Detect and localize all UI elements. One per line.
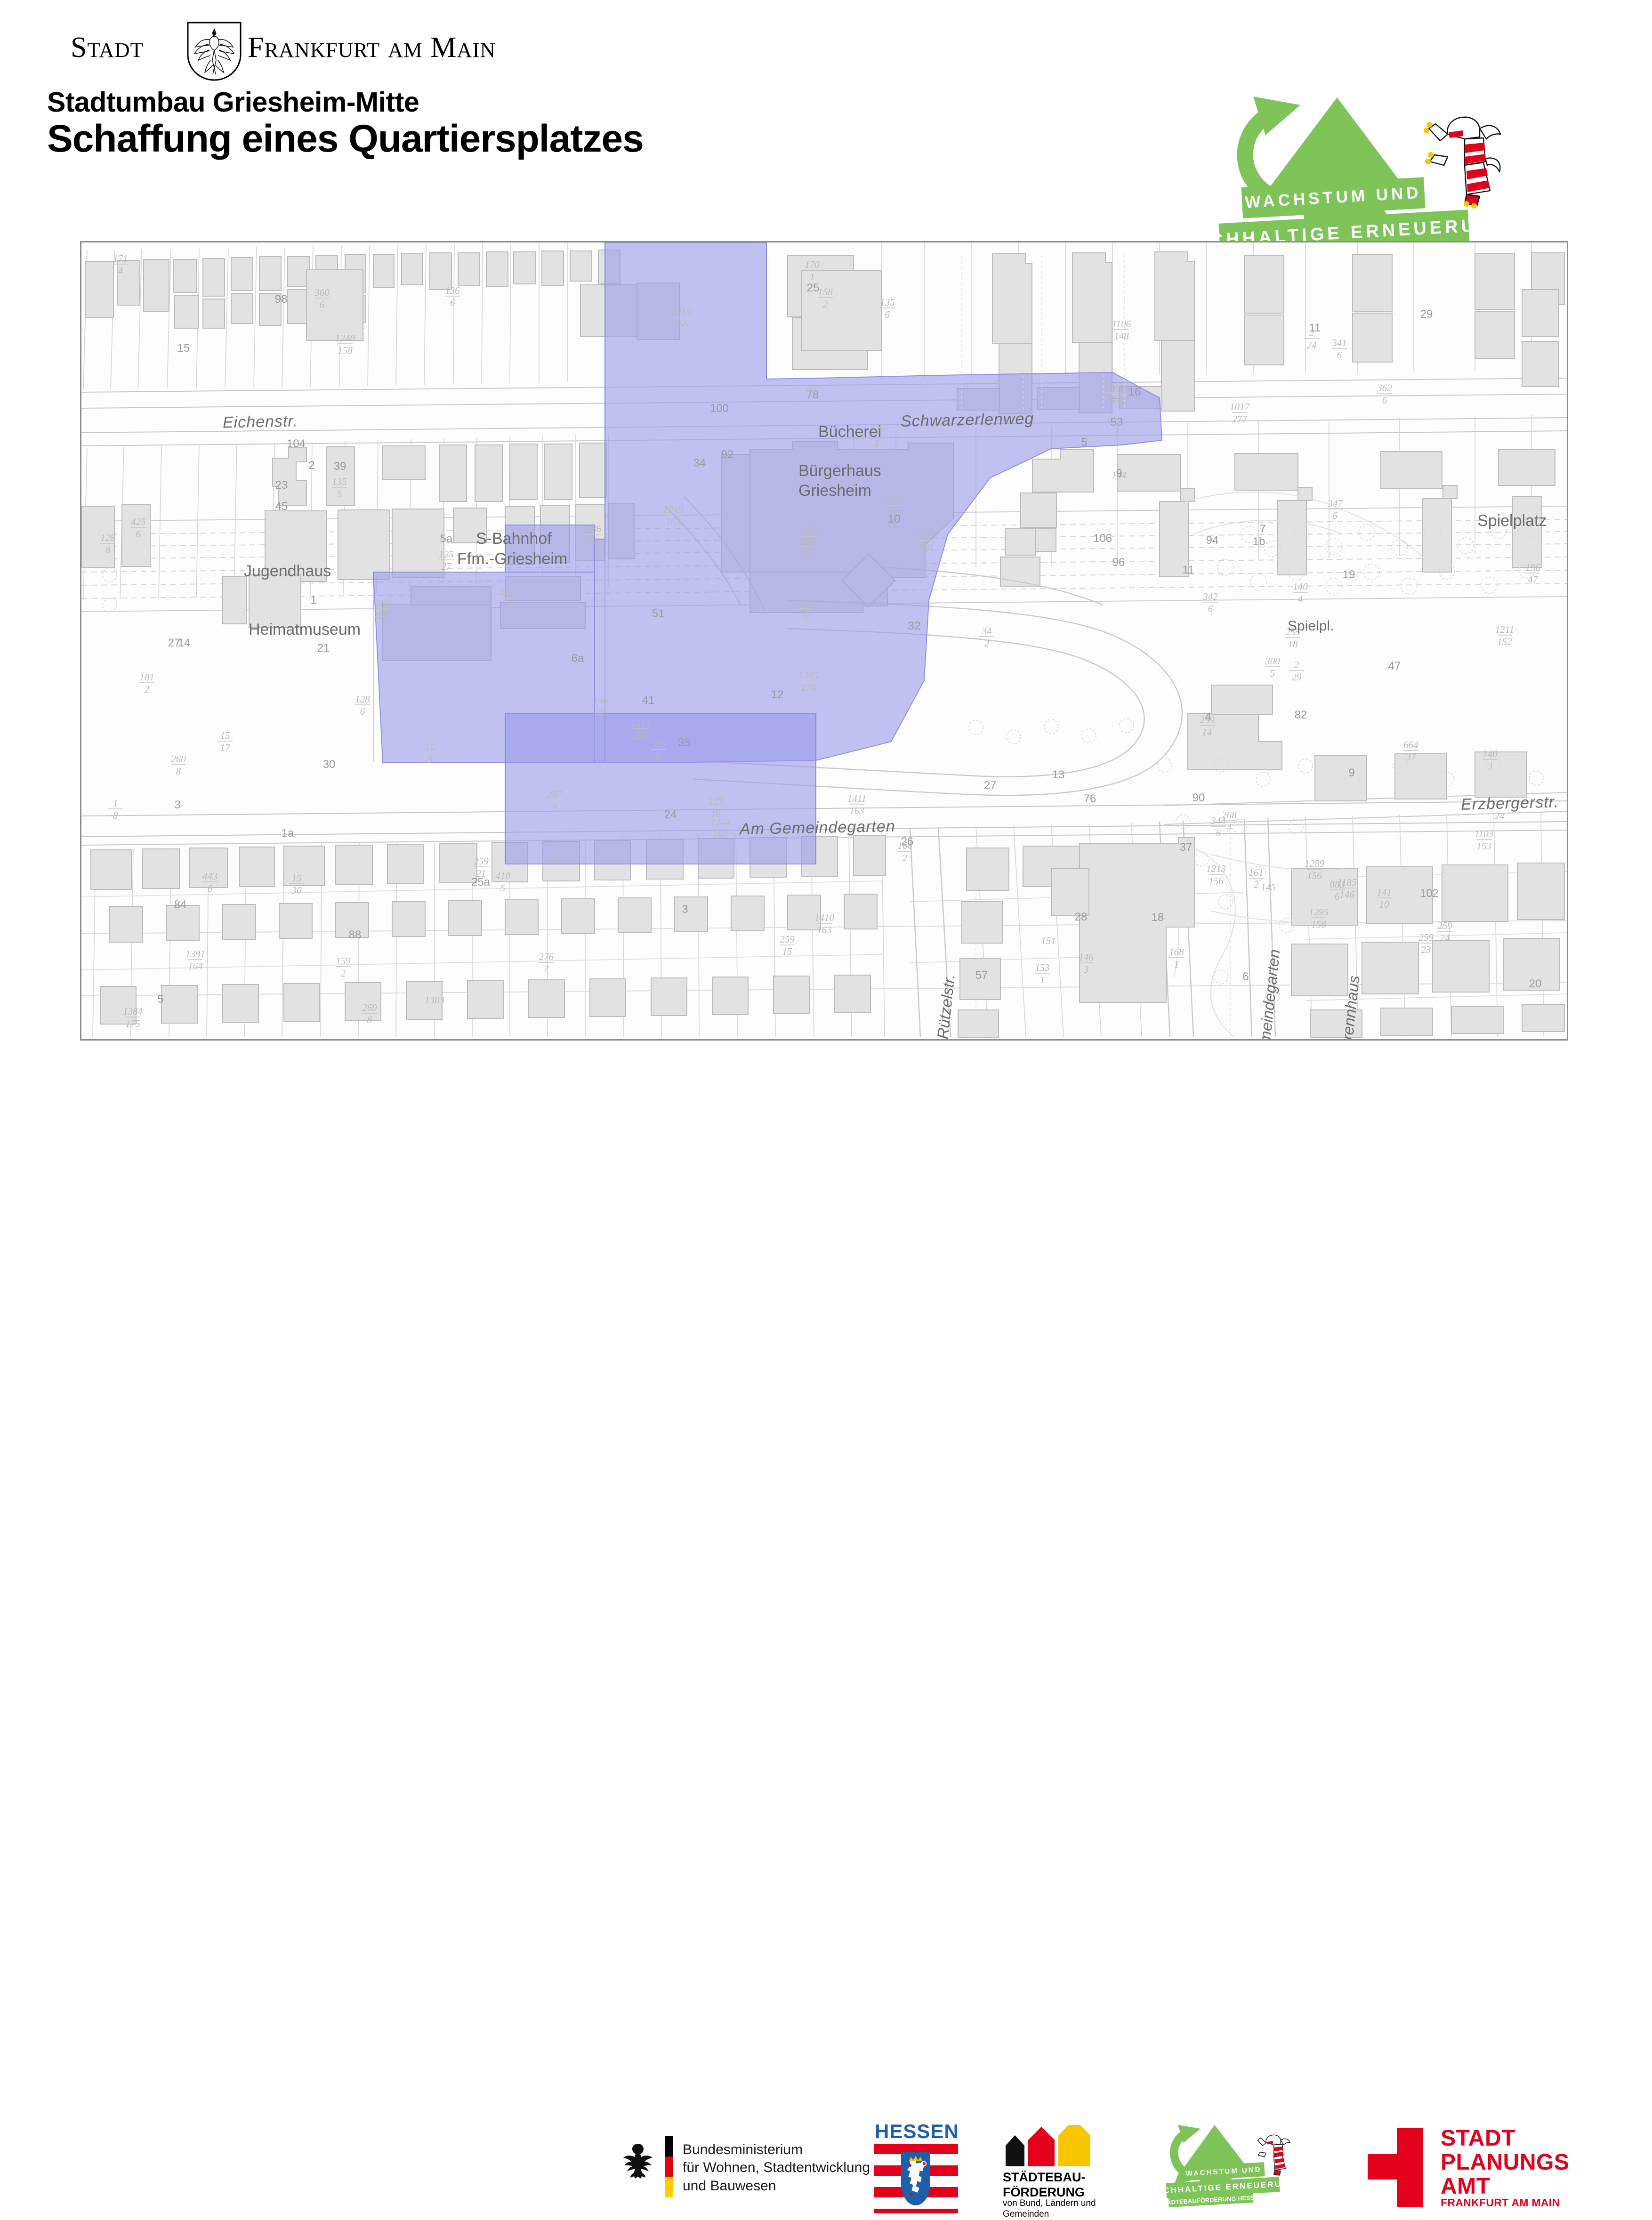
page-footer: Bundesministerium für Wohnen, Stadtentwi…: [0, 1057, 1652, 1168]
svg-text:1244: 1244: [710, 816, 731, 828]
staedtebaufoerderung-logo: STÄDTEBAU- FÖRDERUNG von Bund, Ländern u…: [1003, 2125, 1116, 2214]
svg-text:259: 259: [1437, 920, 1452, 931]
svg-text:1: 1: [310, 594, 316, 606]
svg-text:163: 163: [817, 924, 832, 936]
svg-text:135: 135: [332, 476, 347, 487]
svg-text:53: 53: [1111, 416, 1123, 428]
svg-text:342: 342: [1202, 591, 1218, 602]
svg-text:347: 347: [1327, 498, 1343, 509]
bmwsb-text: Bundesministerium für Wohnen, Stadtentwi…: [683, 2141, 870, 2195]
svg-text:1385: 1385: [798, 670, 818, 681]
svg-text:5a: 5a: [440, 533, 453, 545]
svg-text:15: 15: [177, 342, 190, 355]
svg-text:24: 24: [1440, 932, 1451, 944]
svg-text:1411: 1411: [847, 793, 866, 804]
stadtplanungsamt-line3: AMT: [1441, 2175, 1569, 2199]
svg-text:1: 1: [1040, 974, 1045, 985]
svg-text:29: 29: [1292, 671, 1302, 683]
svg-text:6: 6: [1333, 510, 1338, 521]
svg-text:29: 29: [1420, 308, 1433, 321]
city-logo-word-frankfurt: FRANKFURT AM MAIN: [248, 33, 496, 62]
svg-text:18: 18: [1288, 638, 1298, 650]
svg-text:1410: 1410: [814, 912, 835, 923]
svg-text:1: 1: [1174, 959, 1179, 970]
svg-text:164: 164: [188, 961, 203, 972]
svg-text:152: 152: [1497, 636, 1512, 647]
svg-text:23: 23: [275, 479, 288, 492]
svg-text:1276: 1276: [800, 525, 820, 536]
svg-text:6: 6: [1216, 827, 1221, 839]
svg-text:171: 171: [113, 253, 128, 264]
svg-text:28: 28: [1075, 911, 1088, 923]
svg-text:146: 146: [1339, 889, 1354, 900]
svg-text:9: 9: [1348, 767, 1354, 779]
svg-text:148: 148: [1114, 331, 1129, 342]
stadtplanungsamt-logo: STADT PLANUNGS AMT FRANKFURT AM MAIN: [1368, 2127, 1594, 2212]
hessen-lion-icon: [1419, 110, 1504, 209]
svg-text:196: 196: [593, 694, 608, 706]
svg-text:18: 18: [1152, 911, 1164, 924]
svg-text:1391: 1391: [185, 948, 205, 960]
svg-text:158: 158: [338, 345, 353, 356]
svg-text:26: 26: [901, 835, 914, 848]
svg-text:10: 10: [888, 513, 901, 525]
svg-text:135: 135: [880, 297, 895, 308]
svg-text:367: 367: [798, 597, 814, 609]
svg-text:4: 4: [1117, 395, 1122, 406]
svg-text:141: 141: [1377, 887, 1392, 898]
svg-text:94: 94: [1206, 534, 1219, 547]
svg-text:6: 6: [1382, 395, 1387, 406]
svg-text:15: 15: [425, 742, 435, 753]
svg-text:2: 2: [145, 684, 150, 695]
svg-text:159: 159: [336, 955, 351, 967]
svg-text:3: 3: [874, 438, 879, 449]
svg-text:39: 39: [334, 460, 347, 473]
bmwsb-logo: Bundesministerium für Wohnen, Stadtentwi…: [621, 2131, 885, 2202]
svg-text:24: 24: [1495, 810, 1505, 822]
svg-text:163: 163: [849, 805, 864, 816]
staedtebaufoerderung-title-line1: STÄDTEBAU-: [1003, 2170, 1086, 2185]
svg-text:128: 128: [100, 532, 115, 543]
svg-text:25a: 25a: [471, 876, 491, 888]
svg-text:1384: 1384: [123, 1006, 143, 1017]
svg-text:4: 4: [1298, 593, 1303, 605]
stadtplanungsamt-title: STADT PLANUNGS AMT: [1441, 2127, 1569, 2199]
svg-text:33: 33: [800, 548, 810, 559]
svg-text:90: 90: [1193, 791, 1205, 804]
svg-text:47: 47: [1528, 574, 1539, 585]
svg-text:45: 45: [275, 500, 288, 513]
svg-text:3: 3: [682, 903, 688, 916]
svg-text:425: 425: [131, 516, 146, 527]
svg-text:32: 32: [908, 620, 921, 632]
svg-text:10: 10: [1379, 899, 1390, 910]
svg-text:2: 2: [903, 852, 908, 864]
svg-text:160: 160: [666, 516, 681, 527]
map-drawing: 1366135513561251612527241404141101403130…: [81, 242, 1567, 1039]
svg-text:147: 147: [500, 587, 515, 598]
staedtebaufoerderung-sub-line2: Gemeinden: [1003, 2209, 1096, 2220]
svg-text:13: 13: [1052, 768, 1065, 781]
svg-text:156: 156: [373, 610, 388, 621]
svg-text:21: 21: [317, 642, 330, 654]
svg-text:2: 2: [823, 299, 828, 310]
svg-text:1295: 1295: [1309, 906, 1329, 918]
svg-text:19: 19: [1343, 568, 1355, 581]
svg-text:32: 32: [653, 751, 664, 762]
svg-text:6a: 6a: [572, 652, 584, 665]
svg-text:15: 15: [782, 946, 792, 957]
svg-text:125: 125: [708, 796, 723, 807]
svg-text:128: 128: [355, 694, 370, 705]
three-houses-icon: [1003, 2125, 1092, 2166]
staedtebaufoerderung-title-line2: FÖRDERUNG: [1003, 2185, 1086, 2200]
svg-text:187: 187: [869, 426, 885, 437]
svg-text:25: 25: [807, 282, 820, 294]
svg-text:1b: 1b: [1253, 535, 1265, 548]
page-header: STADT FRANKFURT AM MAIN Stadtumbau Gries…: [0, 0, 1652, 221]
svg-text:6: 6: [320, 299, 325, 310]
svg-text:3: 3: [1083, 964, 1089, 975]
svg-text:15: 15: [800, 535, 810, 547]
svg-text:158: 158: [818, 286, 833, 298]
svg-text:15: 15: [220, 730, 230, 741]
svg-text:6: 6: [450, 297, 455, 308]
svg-text:3: 3: [174, 799, 180, 811]
svg-text:17: 17: [220, 742, 231, 753]
svg-text:2: 2: [341, 968, 346, 979]
svg-text:168: 168: [1169, 946, 1184, 958]
city-logo-word-stadt: STADT: [71, 33, 144, 62]
svg-text:5: 5: [500, 882, 506, 894]
svg-text:2: 2: [984, 638, 990, 649]
svg-text:6: 6: [136, 528, 141, 540]
svg-text:300: 300: [1265, 655, 1280, 667]
svg-text:23: 23: [1421, 944, 1431, 955]
svg-text:6: 6: [803, 610, 808, 621]
svg-text:1213: 1213: [1206, 863, 1226, 874]
program-logo-footer: WACHSTUM UND NACHHALTIGE ERNEUERUNG STÄD…: [1163, 2127, 1351, 2212]
svg-text:362: 362: [1377, 382, 1392, 394]
svg-text:268: 268: [1222, 809, 1237, 821]
bmwsb-line3: und Bauwesen: [683, 2177, 870, 2195]
staedtebaufoerderung-title: STÄDTEBAU- FÖRDERUNG: [1003, 2170, 1086, 2200]
staedtebaufoerderung-sub-line1: von Bund, Ländern und: [1003, 2198, 1096, 2209]
svg-text:15: 15: [292, 872, 302, 884]
svg-text:158: 158: [1311, 919, 1326, 930]
svg-text:2: 2: [308, 459, 314, 472]
svg-text:148: 148: [584, 535, 599, 547]
svg-text:1230: 1230: [885, 494, 905, 506]
stadtplanungsamt-line2: PLANUNGS: [1441, 2151, 1569, 2175]
city-logo: STADT FRANKFURT AM MAIN: [71, 24, 381, 76]
svg-text:156: 156: [1209, 875, 1224, 887]
svg-text:156: 156: [1307, 870, 1322, 881]
svg-text:84: 84: [174, 898, 187, 911]
svg-text:37: 37: [1180, 841, 1193, 854]
svg-text:104: 104: [287, 437, 306, 450]
svg-text:6: 6: [1208, 603, 1213, 614]
svg-text:48: 48: [596, 707, 606, 718]
svg-text:6: 6: [360, 706, 365, 717]
svg-text:1: 1: [810, 271, 815, 283]
svg-text:259: 259: [474, 856, 489, 867]
svg-text:47: 47: [1388, 660, 1401, 672]
svg-text:160: 160: [713, 829, 728, 840]
svg-text:51: 51: [652, 607, 665, 620]
svg-text:1211: 1211: [1495, 624, 1514, 635]
svg-text:1017: 1017: [1230, 401, 1250, 412]
svg-text:7: 7: [1259, 523, 1265, 535]
svg-text:76: 76: [1084, 792, 1096, 805]
svg-text:297: 297: [547, 789, 563, 800]
svg-text:140: 140: [1483, 748, 1498, 759]
svg-text:341: 341: [1331, 337, 1347, 348]
svg-text:161: 161: [1249, 867, 1264, 878]
svg-text:15: 15: [653, 738, 663, 750]
svg-text:1248: 1248: [335, 332, 355, 344]
svg-text:181: 181: [139, 671, 154, 683]
page-title: Schaffung eines Quartiersplatzes: [47, 117, 644, 161]
svg-text:14: 14: [1202, 727, 1213, 738]
svg-text:2: 2: [1254, 879, 1259, 890]
svg-text:153: 153: [1476, 840, 1491, 852]
svg-text:147: 147: [549, 855, 565, 866]
svg-text:5: 5: [337, 488, 342, 500]
svg-text:1280: 1280: [371, 597, 391, 609]
svg-text:34: 34: [982, 625, 992, 637]
svg-text:170: 170: [805, 259, 820, 270]
svg-text:6: 6: [208, 883, 213, 894]
svg-text:125: 125: [439, 549, 454, 560]
svg-text:1289: 1289: [1305, 858, 1325, 869]
svg-text:6: 6: [885, 309, 890, 320]
svg-text:12: 12: [771, 688, 784, 701]
svg-text:1a: 1a: [282, 827, 294, 840]
hessen-wordmark: HESSEN: [875, 2120, 959, 2143]
svg-text:9: 9: [1116, 467, 1122, 480]
svg-text:6: 6: [1335, 891, 1340, 902]
svg-text:1106: 1106: [1112, 318, 1131, 330]
svg-text:8: 8: [113, 810, 118, 821]
hessen-logo: HESSEN: [873, 2122, 960, 2214]
svg-text:7: 7: [544, 963, 549, 975]
svg-text:27: 27: [984, 779, 997, 792]
svg-text:883: 883: [1330, 879, 1345, 890]
svg-text:30: 30: [323, 758, 336, 771]
svg-text:4: 4: [118, 265, 123, 276]
svg-text:8: 8: [105, 544, 111, 556]
svg-text:24: 24: [664, 808, 677, 821]
svg-text:1214: 1214: [671, 306, 692, 317]
svg-text:145: 145: [1261, 881, 1276, 893]
svg-text:136: 136: [445, 285, 460, 296]
stadtplanungsamt-sub: FRANKFURT AM MAIN: [1441, 2196, 1560, 2209]
svg-text:664: 664: [1403, 739, 1418, 751]
svg-text:30: 30: [291, 885, 302, 896]
svg-text:255: 255: [1285, 626, 1300, 638]
svg-text:102: 102: [1420, 887, 1439, 900]
svg-text:6: 6: [505, 599, 510, 611]
svg-text:82: 82: [1295, 709, 1307, 721]
svg-text:1103: 1103: [1475, 828, 1493, 840]
svg-text:20: 20: [1529, 977, 1542, 990]
page-subtitle: Stadtumbau Griesheim-Mitte: [47, 86, 419, 118]
svg-text:8: 8: [176, 766, 181, 777]
svg-text:96: 96: [1112, 556, 1125, 569]
svg-text:1: 1: [113, 798, 118, 809]
svg-text:276: 276: [539, 951, 554, 962]
svg-text:277: 277: [1232, 413, 1248, 425]
svg-text:37: 37: [1406, 751, 1417, 763]
svg-text:259: 259: [1418, 932, 1434, 943]
spa-mark-icon: [1368, 2128, 1423, 2207]
svg-text:360: 360: [314, 287, 330, 298]
bmwsb-line1: Bundesministerium: [683, 2141, 870, 2159]
svg-text:151: 151: [1041, 935, 1056, 946]
svg-text:158: 158: [1112, 383, 1127, 394]
svg-text:269: 269: [362, 1002, 377, 1013]
svg-text:34: 34: [693, 457, 706, 469]
svg-text:4: 4: [1227, 822, 1232, 833]
svg-text:158: 158: [918, 541, 933, 553]
svg-text:1212: 1212: [631, 718, 651, 729]
svg-text:88: 88: [349, 928, 362, 941]
svg-text:11: 11: [1309, 322, 1321, 334]
bundesadler-eagle-icon: [621, 2142, 654, 2179]
svg-text:1249: 1249: [663, 504, 684, 515]
svg-text:14: 14: [178, 637, 191, 649]
stadtplanungsamt-line1: STADT: [1441, 2127, 1569, 2151]
german-flag-bar-icon: [665, 2136, 673, 2197]
svg-text:6: 6: [1242, 970, 1249, 983]
cadastral-map[interactable]: 1366135513561251612527241404141101403130…: [80, 241, 1568, 1041]
svg-text:3: 3: [1487, 760, 1493, 772]
svg-text:16: 16: [1128, 386, 1141, 398]
svg-text:27: 27: [442, 561, 452, 572]
svg-text:5: 5: [1270, 668, 1275, 679]
svg-text:24: 24: [1307, 339, 1317, 351]
svg-text:1287: 1287: [915, 529, 936, 541]
svg-text:100: 100: [710, 402, 729, 415]
svg-text:196: 196: [1525, 562, 1540, 573]
svg-text:146: 146: [1079, 952, 1094, 963]
svg-text:175: 175: [125, 1018, 140, 1029]
svg-text:6: 6: [1337, 349, 1342, 361]
svg-text:57: 57: [975, 969, 988, 982]
svg-text:106: 106: [1093, 532, 1112, 545]
svg-text:410: 410: [495, 870, 510, 881]
svg-text:260: 260: [171, 753, 186, 765]
svg-text:78: 78: [806, 388, 819, 401]
svg-text:92: 92: [721, 448, 734, 461]
staedtebaufoerderung-sub: von Bund, Ländern und Gemeinden: [1003, 2198, 1096, 2220]
svg-text:98: 98: [275, 293, 288, 306]
svg-text:140: 140: [1293, 581, 1308, 592]
svg-text:174: 174: [801, 682, 816, 693]
svg-text:5: 5: [157, 993, 163, 1006]
svg-text:1186: 1186: [582, 523, 602, 534]
svg-text:443: 443: [202, 871, 218, 882]
svg-text:2: 2: [1294, 659, 1299, 670]
svg-text:9: 9: [427, 754, 433, 765]
svg-text:11: 11: [1183, 564, 1194, 576]
svg-text:41: 41: [642, 694, 655, 707]
svg-text:1303: 1303: [425, 994, 444, 1006]
frankfurt-eagle-crest-icon: [186, 21, 242, 81]
svg-text:156: 156: [674, 318, 689, 330]
svg-text:5: 5: [1081, 436, 1087, 449]
bmwsb-line2: für Wohnen, Stadtentwicklung: [683, 2159, 870, 2177]
svg-text:35: 35: [678, 736, 691, 749]
svg-text:8: 8: [367, 1014, 372, 1025]
svg-text:4: 4: [552, 801, 557, 812]
svg-text:259: 259: [780, 934, 795, 945]
svg-text:4: 4: [1205, 710, 1211, 723]
svg-text:153: 153: [1035, 962, 1050, 973]
hessen-shield-icon: [901, 2151, 931, 2206]
svg-text:153: 153: [633, 730, 648, 741]
